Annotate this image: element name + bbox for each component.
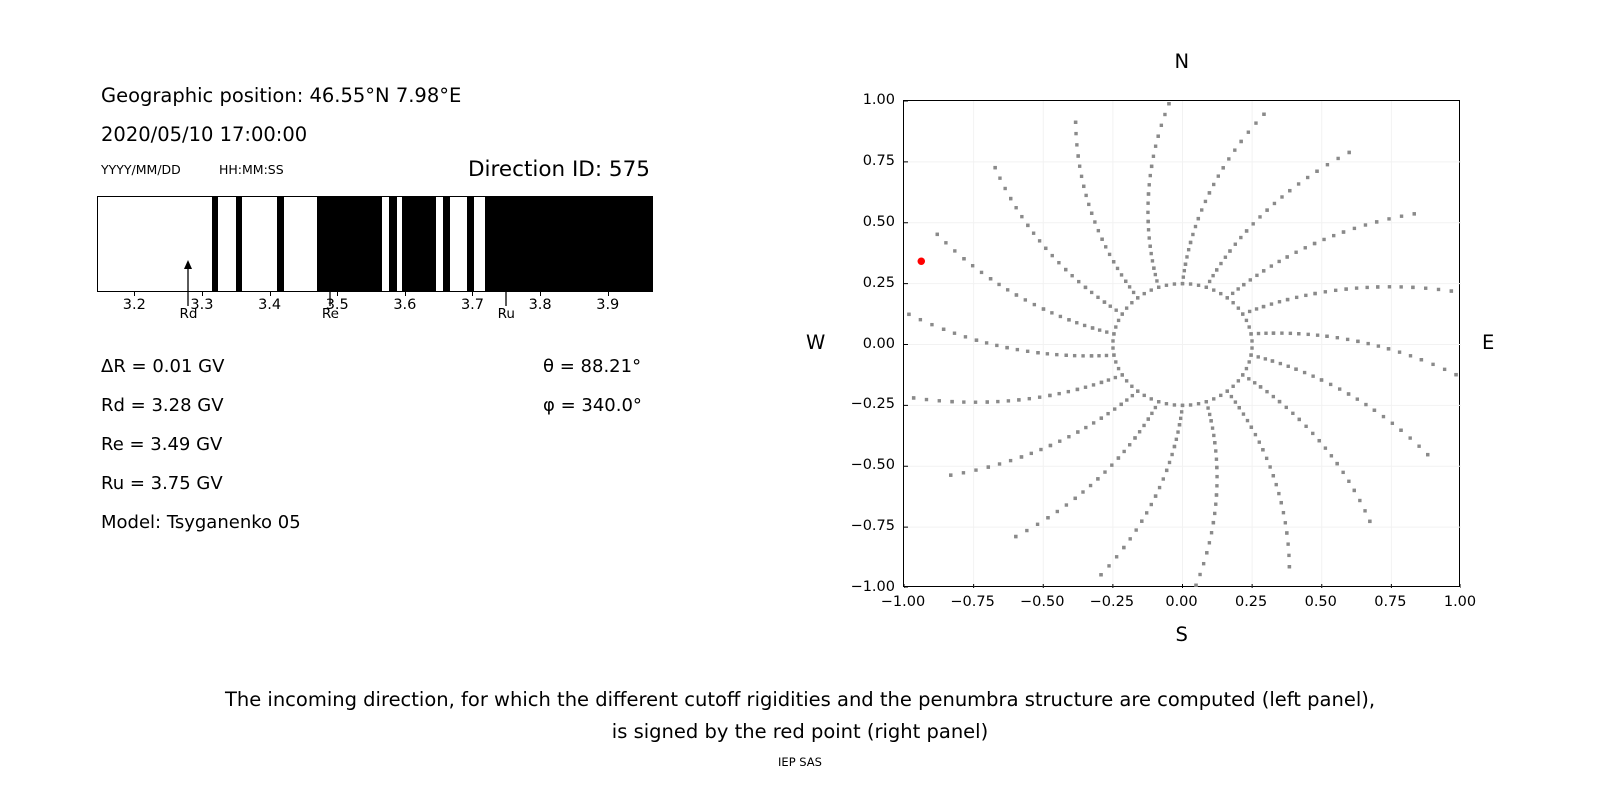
direction-point bbox=[1096, 477, 1099, 480]
direction-point bbox=[1038, 395, 1041, 398]
x-axis-tick-label: 1.00 bbox=[1444, 594, 1476, 610]
direction-point bbox=[1005, 346, 1008, 349]
direction-point bbox=[1375, 220, 1378, 223]
direction-point bbox=[1016, 348, 1019, 351]
direction-point bbox=[1173, 445, 1176, 448]
y-axis-tick-label: −0.75 bbox=[845, 518, 895, 534]
direction-point bbox=[1228, 249, 1231, 252]
direction-point bbox=[1219, 292, 1222, 295]
direction-point bbox=[964, 335, 967, 338]
penumbra-bar bbox=[97, 196, 653, 292]
direction-point bbox=[1064, 268, 1067, 271]
direction-point bbox=[1115, 555, 1118, 558]
direction-point bbox=[1329, 383, 1332, 386]
direction-point bbox=[1211, 274, 1214, 277]
direction-point bbox=[1014, 206, 1017, 209]
direction-point bbox=[1074, 132, 1077, 135]
x-axis-tick-label: −1.00 bbox=[881, 594, 925, 610]
direction-point bbox=[1255, 274, 1258, 277]
direction-point bbox=[1140, 519, 1143, 522]
direction-point bbox=[1121, 312, 1124, 315]
direction-point bbox=[1212, 183, 1215, 186]
direction-point bbox=[1346, 338, 1349, 341]
direction-point bbox=[1424, 287, 1427, 290]
direction-point bbox=[1324, 290, 1327, 293]
direction-point bbox=[1278, 400, 1281, 403]
direction-point bbox=[1324, 446, 1327, 449]
direction-point bbox=[1431, 363, 1434, 366]
direction-point bbox=[930, 323, 933, 326]
x-axis-tick-label: 0.25 bbox=[1235, 594, 1267, 610]
direction-point bbox=[1251, 222, 1254, 225]
direction-point bbox=[1265, 390, 1268, 393]
direction-point bbox=[1080, 175, 1083, 178]
direction-point bbox=[1105, 330, 1108, 333]
direction-point bbox=[1373, 408, 1376, 411]
stat-ru: Ru = 3.75 GV bbox=[101, 473, 223, 494]
direction-point bbox=[1087, 203, 1090, 206]
direction-point bbox=[912, 396, 915, 399]
direction-point bbox=[1208, 413, 1211, 416]
direction-point bbox=[1215, 493, 1218, 496]
time-format-hint: HH:MM:SS bbox=[219, 162, 284, 177]
datetime-label: 2020/05/10 17:00:00 bbox=[101, 123, 307, 146]
direction-point bbox=[1208, 280, 1211, 283]
caption-line-2: is signed by the red point (right panel) bbox=[0, 716, 1600, 748]
direction-point bbox=[1297, 182, 1300, 185]
direction-point bbox=[925, 398, 928, 401]
direction-point bbox=[1056, 510, 1059, 513]
direction-point bbox=[1006, 288, 1009, 291]
direction-point bbox=[1122, 450, 1125, 453]
direction-point bbox=[997, 283, 1000, 286]
direction-point bbox=[1189, 241, 1192, 244]
direction-point bbox=[1285, 255, 1288, 258]
direction-point bbox=[1213, 441, 1216, 444]
direction-point bbox=[1154, 406, 1157, 409]
direction-point bbox=[1272, 331, 1275, 334]
rigidity-tick-label: 3.2 bbox=[123, 297, 146, 313]
penumbra-chart bbox=[97, 196, 653, 292]
direction-point bbox=[1103, 470, 1106, 473]
stat-model: Model: Tsyganenko 05 bbox=[101, 512, 301, 533]
direction-point bbox=[1315, 170, 1318, 173]
rigidity-axis: 3.23.33.43.53.63.73.83.9RdReRu bbox=[97, 292, 653, 352]
direction-point bbox=[1165, 284, 1168, 287]
direction-point bbox=[1084, 286, 1087, 289]
direction-point bbox=[1224, 256, 1227, 259]
direction-point bbox=[1368, 520, 1371, 523]
direction-point bbox=[996, 400, 999, 403]
direction-point bbox=[1160, 124, 1163, 127]
direction-point bbox=[1020, 215, 1023, 218]
direction-point bbox=[1078, 165, 1081, 168]
direction-point bbox=[1336, 336, 1339, 339]
direction-point bbox=[1288, 565, 1291, 568]
direction-point bbox=[1365, 286, 1368, 289]
direction-point bbox=[1133, 436, 1136, 439]
direction-point bbox=[1081, 354, 1084, 357]
direction-point bbox=[950, 400, 953, 403]
direction-point bbox=[1106, 412, 1109, 415]
direction-point bbox=[1009, 459, 1012, 462]
direction-point bbox=[1112, 260, 1115, 263]
direction-point bbox=[1347, 151, 1350, 154]
x-axis-tick-label: −0.50 bbox=[1020, 594, 1064, 610]
direction-point bbox=[1003, 187, 1006, 190]
direction-point bbox=[1443, 368, 1446, 371]
direction-point bbox=[980, 271, 983, 274]
arrow-up-icon bbox=[499, 260, 513, 306]
direction-point bbox=[1163, 113, 1166, 116]
direction-point bbox=[1073, 354, 1076, 357]
direction-point bbox=[1075, 143, 1078, 146]
direction-point bbox=[1233, 148, 1236, 151]
direction-point bbox=[1055, 353, 1058, 356]
rigidity-tick-mark bbox=[608, 292, 609, 296]
direction-point bbox=[1091, 326, 1094, 329]
y-axis-tick-label: −0.25 bbox=[845, 396, 895, 412]
direction-point bbox=[1075, 321, 1078, 324]
direction-point bbox=[1341, 471, 1344, 474]
direction-point bbox=[1105, 354, 1108, 357]
direction-point bbox=[1183, 269, 1186, 272]
direction-point bbox=[1064, 354, 1067, 357]
penumbra-band bbox=[277, 197, 284, 291]
direction-point bbox=[1097, 229, 1100, 232]
direction-point bbox=[1335, 462, 1338, 465]
direction-point bbox=[1313, 292, 1316, 295]
direction-point bbox=[1231, 385, 1234, 388]
direction-point bbox=[1168, 461, 1171, 464]
penumbra-panel: Geographic position: 46.55°N 7.98°E 2020… bbox=[0, 0, 740, 660]
direction-point bbox=[1158, 486, 1161, 489]
y-axis-tick-label: −1.00 bbox=[845, 579, 895, 595]
direction-point bbox=[1317, 439, 1320, 442]
direction-point bbox=[1150, 412, 1153, 415]
direction-point bbox=[1057, 392, 1060, 395]
direction-point bbox=[1197, 402, 1200, 405]
direction-point bbox=[1067, 318, 1070, 321]
direction-point bbox=[1138, 430, 1141, 433]
direction-point bbox=[1287, 554, 1290, 557]
direction-point bbox=[1084, 386, 1087, 389]
direction-point bbox=[1237, 379, 1240, 382]
direction-point bbox=[1334, 289, 1337, 292]
direction-point bbox=[1044, 247, 1047, 250]
direction-point bbox=[1150, 165, 1153, 168]
direction-point bbox=[1210, 531, 1213, 534]
direction-point bbox=[1130, 301, 1133, 304]
direction-point bbox=[1420, 358, 1423, 361]
rigidity-tick-mark bbox=[540, 292, 541, 296]
direction-point bbox=[1076, 154, 1079, 157]
stat-delta-r: ΔR = 0.01 GV bbox=[101, 356, 224, 377]
date-format-hint: YYYY/MM/DD bbox=[101, 162, 181, 177]
direction-point bbox=[1326, 163, 1329, 166]
direction-point bbox=[1270, 302, 1273, 305]
direction-point bbox=[1275, 483, 1278, 486]
direction-point bbox=[1239, 140, 1242, 143]
direction-point bbox=[1119, 403, 1122, 406]
direction-point bbox=[1261, 448, 1264, 451]
direction-point bbox=[1226, 389, 1229, 392]
rigidity-tick-label: 3.4 bbox=[258, 297, 281, 313]
direction-point bbox=[1215, 466, 1218, 469]
direction-point bbox=[1100, 416, 1103, 419]
direction-point bbox=[1358, 499, 1361, 502]
direction-point bbox=[1264, 332, 1267, 335]
direction-point bbox=[1036, 351, 1039, 354]
direction-point bbox=[1221, 166, 1224, 169]
direction-point bbox=[1103, 300, 1106, 303]
direction-point bbox=[1017, 398, 1020, 401]
direction-point bbox=[1077, 280, 1080, 283]
direction-point bbox=[1154, 145, 1157, 148]
direction-point bbox=[1291, 412, 1294, 415]
direction-point bbox=[1032, 232, 1035, 235]
direction-point bbox=[1179, 417, 1182, 420]
direction-point bbox=[1111, 339, 1114, 342]
direction-point bbox=[1090, 354, 1093, 357]
direction-point bbox=[1128, 285, 1131, 288]
direction-point bbox=[1271, 359, 1274, 362]
direction-point bbox=[1242, 412, 1245, 415]
footer-credit: IEP SAS bbox=[0, 755, 1600, 769]
direction-point bbox=[1248, 360, 1251, 363]
direction-point bbox=[1239, 236, 1242, 239]
direction-point bbox=[944, 241, 947, 244]
direction-point bbox=[1117, 367, 1120, 370]
rigidity-tick-label: 3.9 bbox=[596, 297, 619, 313]
direction-point bbox=[1033, 303, 1036, 306]
direction-point bbox=[1227, 157, 1230, 160]
direction-point bbox=[962, 400, 965, 403]
direction-point bbox=[1282, 511, 1285, 514]
direction-point bbox=[1057, 261, 1060, 264]
direction-point bbox=[1189, 403, 1192, 406]
direction-point bbox=[1399, 285, 1402, 288]
direction-point bbox=[1015, 293, 1018, 296]
x-axis-tick-label: −0.25 bbox=[1090, 594, 1134, 610]
direction-point bbox=[1265, 208, 1268, 211]
direction-point bbox=[1181, 404, 1184, 407]
direction-point bbox=[1112, 332, 1115, 335]
penumbra-band bbox=[389, 197, 397, 291]
direction-point bbox=[1122, 546, 1125, 549]
direction-point bbox=[1142, 424, 1145, 427]
y-axis-tick-label: 0.00 bbox=[845, 336, 895, 352]
direction-point bbox=[1084, 194, 1087, 197]
direction-point bbox=[1187, 248, 1190, 251]
rigidity-tick-mark bbox=[202, 292, 203, 296]
figure-caption: The incoming direction, for which the di… bbox=[0, 684, 1600, 748]
direction-point bbox=[1284, 521, 1287, 524]
direction-point bbox=[1009, 197, 1012, 200]
compass-south-label: S bbox=[1176, 623, 1188, 646]
stat-phi: φ = 340.0° bbox=[543, 395, 642, 416]
direction-point bbox=[1242, 283, 1245, 286]
direction-point bbox=[938, 399, 941, 402]
direction-point bbox=[1272, 395, 1275, 398]
direction-point bbox=[1132, 291, 1135, 294]
direction-point bbox=[1366, 342, 1369, 345]
direction-point bbox=[1376, 285, 1379, 288]
direction-point bbox=[1130, 385, 1133, 388]
direction-point bbox=[953, 249, 956, 252]
direction-point bbox=[1280, 195, 1283, 198]
direction-point bbox=[1214, 449, 1217, 452]
direction-point bbox=[1096, 296, 1099, 299]
direction-point bbox=[1330, 454, 1333, 457]
direction-point bbox=[1180, 410, 1183, 413]
direction-point bbox=[1265, 457, 1268, 460]
direction-point bbox=[1303, 371, 1306, 374]
direction-point bbox=[1150, 503, 1153, 506]
direction-point bbox=[1363, 509, 1366, 512]
direction-point bbox=[1332, 234, 1335, 237]
direction-point bbox=[1286, 298, 1289, 301]
direction-point bbox=[1125, 398, 1128, 401]
direction-point bbox=[1125, 379, 1128, 382]
direction-point bbox=[1212, 521, 1215, 524]
direction-point bbox=[1254, 433, 1257, 436]
direction-point bbox=[1400, 215, 1403, 218]
direction-point bbox=[1114, 325, 1117, 328]
direction-point bbox=[1184, 262, 1187, 265]
direction-point bbox=[1208, 541, 1211, 544]
direction-point bbox=[1257, 355, 1260, 358]
direction-point bbox=[985, 400, 988, 403]
direction-point bbox=[1237, 306, 1240, 309]
direction-point bbox=[1090, 291, 1093, 294]
direction-point bbox=[1117, 319, 1120, 322]
direction-point bbox=[1084, 426, 1087, 429]
direction-point bbox=[1149, 174, 1152, 177]
direction-point bbox=[1120, 273, 1123, 276]
direction-point bbox=[1230, 395, 1233, 398]
direction-point bbox=[1280, 331, 1283, 334]
direction-point bbox=[1112, 353, 1115, 356]
direction-point bbox=[1197, 284, 1200, 287]
direction-point bbox=[1262, 269, 1265, 272]
direction-point bbox=[1313, 242, 1316, 245]
direction-point bbox=[1097, 354, 1100, 357]
direction-point bbox=[1388, 285, 1391, 288]
direction-point bbox=[1150, 252, 1153, 255]
direction-point bbox=[1114, 360, 1117, 363]
x-axis-tick-label: 0.50 bbox=[1305, 594, 1337, 610]
rigidity-tick-label: 3.8 bbox=[529, 297, 552, 313]
direction-point bbox=[1238, 406, 1241, 409]
direction-point bbox=[1248, 325, 1251, 328]
direction-point bbox=[1113, 407, 1116, 410]
direction-point bbox=[1215, 484, 1218, 487]
rigidity-tick-mark bbox=[270, 292, 271, 296]
direction-point bbox=[1241, 373, 1244, 376]
direction-point bbox=[989, 277, 992, 280]
direction-point bbox=[1356, 397, 1359, 400]
direction-point bbox=[1387, 347, 1390, 350]
direction-point bbox=[1173, 282, 1176, 285]
direction-point bbox=[1100, 237, 1103, 240]
direction-point bbox=[1070, 274, 1073, 277]
direction-point bbox=[953, 332, 956, 335]
direction-point bbox=[1246, 419, 1249, 422]
direction-point bbox=[1262, 113, 1265, 116]
direction-point bbox=[1257, 332, 1260, 335]
direction-point bbox=[1178, 423, 1181, 426]
direction-point bbox=[1408, 436, 1411, 439]
cutoff-marker-label: Re bbox=[322, 306, 339, 322]
direction-point bbox=[1114, 376, 1117, 379]
direction-point bbox=[1236, 287, 1239, 290]
direction-point bbox=[1162, 477, 1165, 480]
direction-point bbox=[1277, 260, 1280, 263]
direction-point bbox=[1093, 220, 1096, 223]
direction-point bbox=[1051, 254, 1054, 257]
direction-point bbox=[975, 338, 978, 341]
direction-point bbox=[1143, 292, 1146, 295]
direction-point bbox=[1042, 307, 1045, 310]
direction-point bbox=[1148, 183, 1151, 186]
direction-point bbox=[907, 313, 910, 316]
direction-point bbox=[1128, 443, 1131, 446]
direction-point bbox=[1104, 245, 1107, 248]
direction-point bbox=[1082, 185, 1085, 188]
direction-point bbox=[1167, 102, 1170, 105]
direction-point bbox=[1353, 489, 1356, 492]
direction-point bbox=[1247, 377, 1250, 380]
direction-point bbox=[1277, 492, 1280, 495]
direction-point bbox=[1150, 288, 1153, 291]
direction-point bbox=[1231, 301, 1234, 304]
direction-point bbox=[1121, 373, 1124, 376]
direction-point bbox=[1146, 211, 1149, 214]
compass-north-label: N bbox=[1175, 50, 1190, 73]
direction-point bbox=[1039, 448, 1042, 451]
selected-direction-point[interactable] bbox=[918, 257, 926, 265]
direction-point bbox=[1205, 400, 1208, 403]
direction-point bbox=[1125, 306, 1128, 309]
rigidity-tick-mark bbox=[472, 292, 473, 296]
penumbra-band bbox=[402, 197, 437, 291]
direction-point bbox=[1245, 367, 1248, 370]
direction-point bbox=[1212, 434, 1215, 437]
direction-point bbox=[1204, 200, 1207, 203]
direction-point bbox=[1176, 430, 1179, 433]
direction-point bbox=[949, 473, 952, 476]
cutoff-marker-label: Ru bbox=[498, 306, 515, 322]
direction-point bbox=[1399, 429, 1402, 432]
direction-point bbox=[1387, 217, 1390, 220]
direction-point bbox=[1364, 403, 1367, 406]
direction-point bbox=[1297, 332, 1300, 335]
direction-point bbox=[1322, 238, 1325, 241]
direction-point bbox=[1253, 381, 1256, 384]
direction-point bbox=[1254, 121, 1257, 124]
direction-point bbox=[1157, 286, 1160, 289]
direction-point bbox=[1285, 406, 1288, 409]
direction-point bbox=[1147, 228, 1150, 231]
direction-point bbox=[1316, 333, 1319, 336]
direction-point bbox=[1143, 394, 1146, 397]
direction-point bbox=[1311, 432, 1314, 435]
direction-point bbox=[1155, 279, 1158, 282]
direction-point bbox=[1092, 383, 1095, 386]
direction-point bbox=[1270, 264, 1273, 267]
direction-point bbox=[1049, 444, 1052, 447]
